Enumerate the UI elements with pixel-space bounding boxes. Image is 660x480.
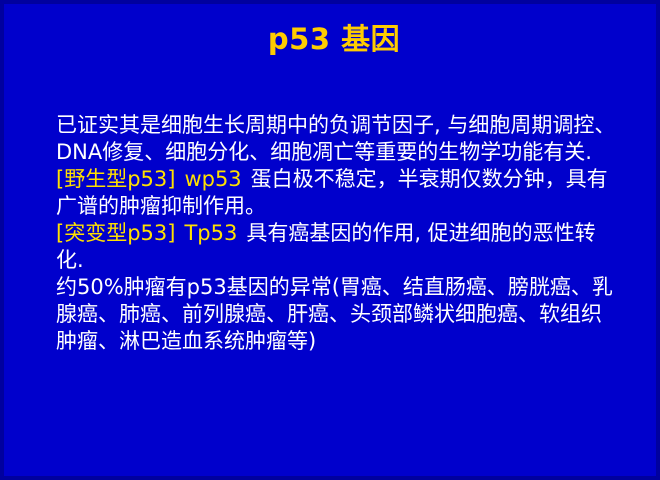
wild-type-label: [野生型p53] — [56, 167, 175, 191]
mutant-type-gene-code: Tp53 — [184, 221, 237, 245]
paragraph-wild-type-p53: [野生型p53]wp53蛋白极不稳定，半衰期仅数分钟，具有广谱的肿瘤抑制作用。 — [56, 166, 618, 220]
paragraph-p53-function: 已证实其是细胞生长周期中的负调节因子, 与细胞周期调控、DNA修复、细胞分化、细… — [56, 112, 618, 166]
wild-type-gene-code: wp53 — [184, 167, 241, 191]
paragraph-mutant-type-p53: [突变型p53]Tp53具有癌基因的作用, 促进细胞的恶性转化. — [56, 220, 618, 274]
paragraph-tumor-prevalence: 约50%肿瘤有p53基因的异常(胃癌、结直肠癌、膀胱癌、乳腺癌、肺癌、前列腺癌、… — [56, 274, 618, 355]
mutant-type-label: [突变型p53] — [56, 221, 175, 245]
slide-body: 已证实其是细胞生长周期中的负调节因子, 与细胞周期调控、DNA修复、细胞分化、细… — [56, 112, 618, 355]
paragraph-text: 约50%肿瘤有p53基因的异常(胃癌、结直肠癌、膀胱癌、乳腺癌、肺癌、前列腺癌、… — [56, 275, 613, 353]
paragraph-text: 已证实其是细胞生长周期中的负调节因子, 与细胞周期调控、DNA修复、细胞分化、细… — [56, 113, 615, 164]
slide-title: p53 基因 — [4, 22, 660, 56]
presentation-slide: p53 基因 已证实其是细胞生长周期中的负调节因子, 与细胞周期调控、DNA修复… — [0, 0, 660, 480]
